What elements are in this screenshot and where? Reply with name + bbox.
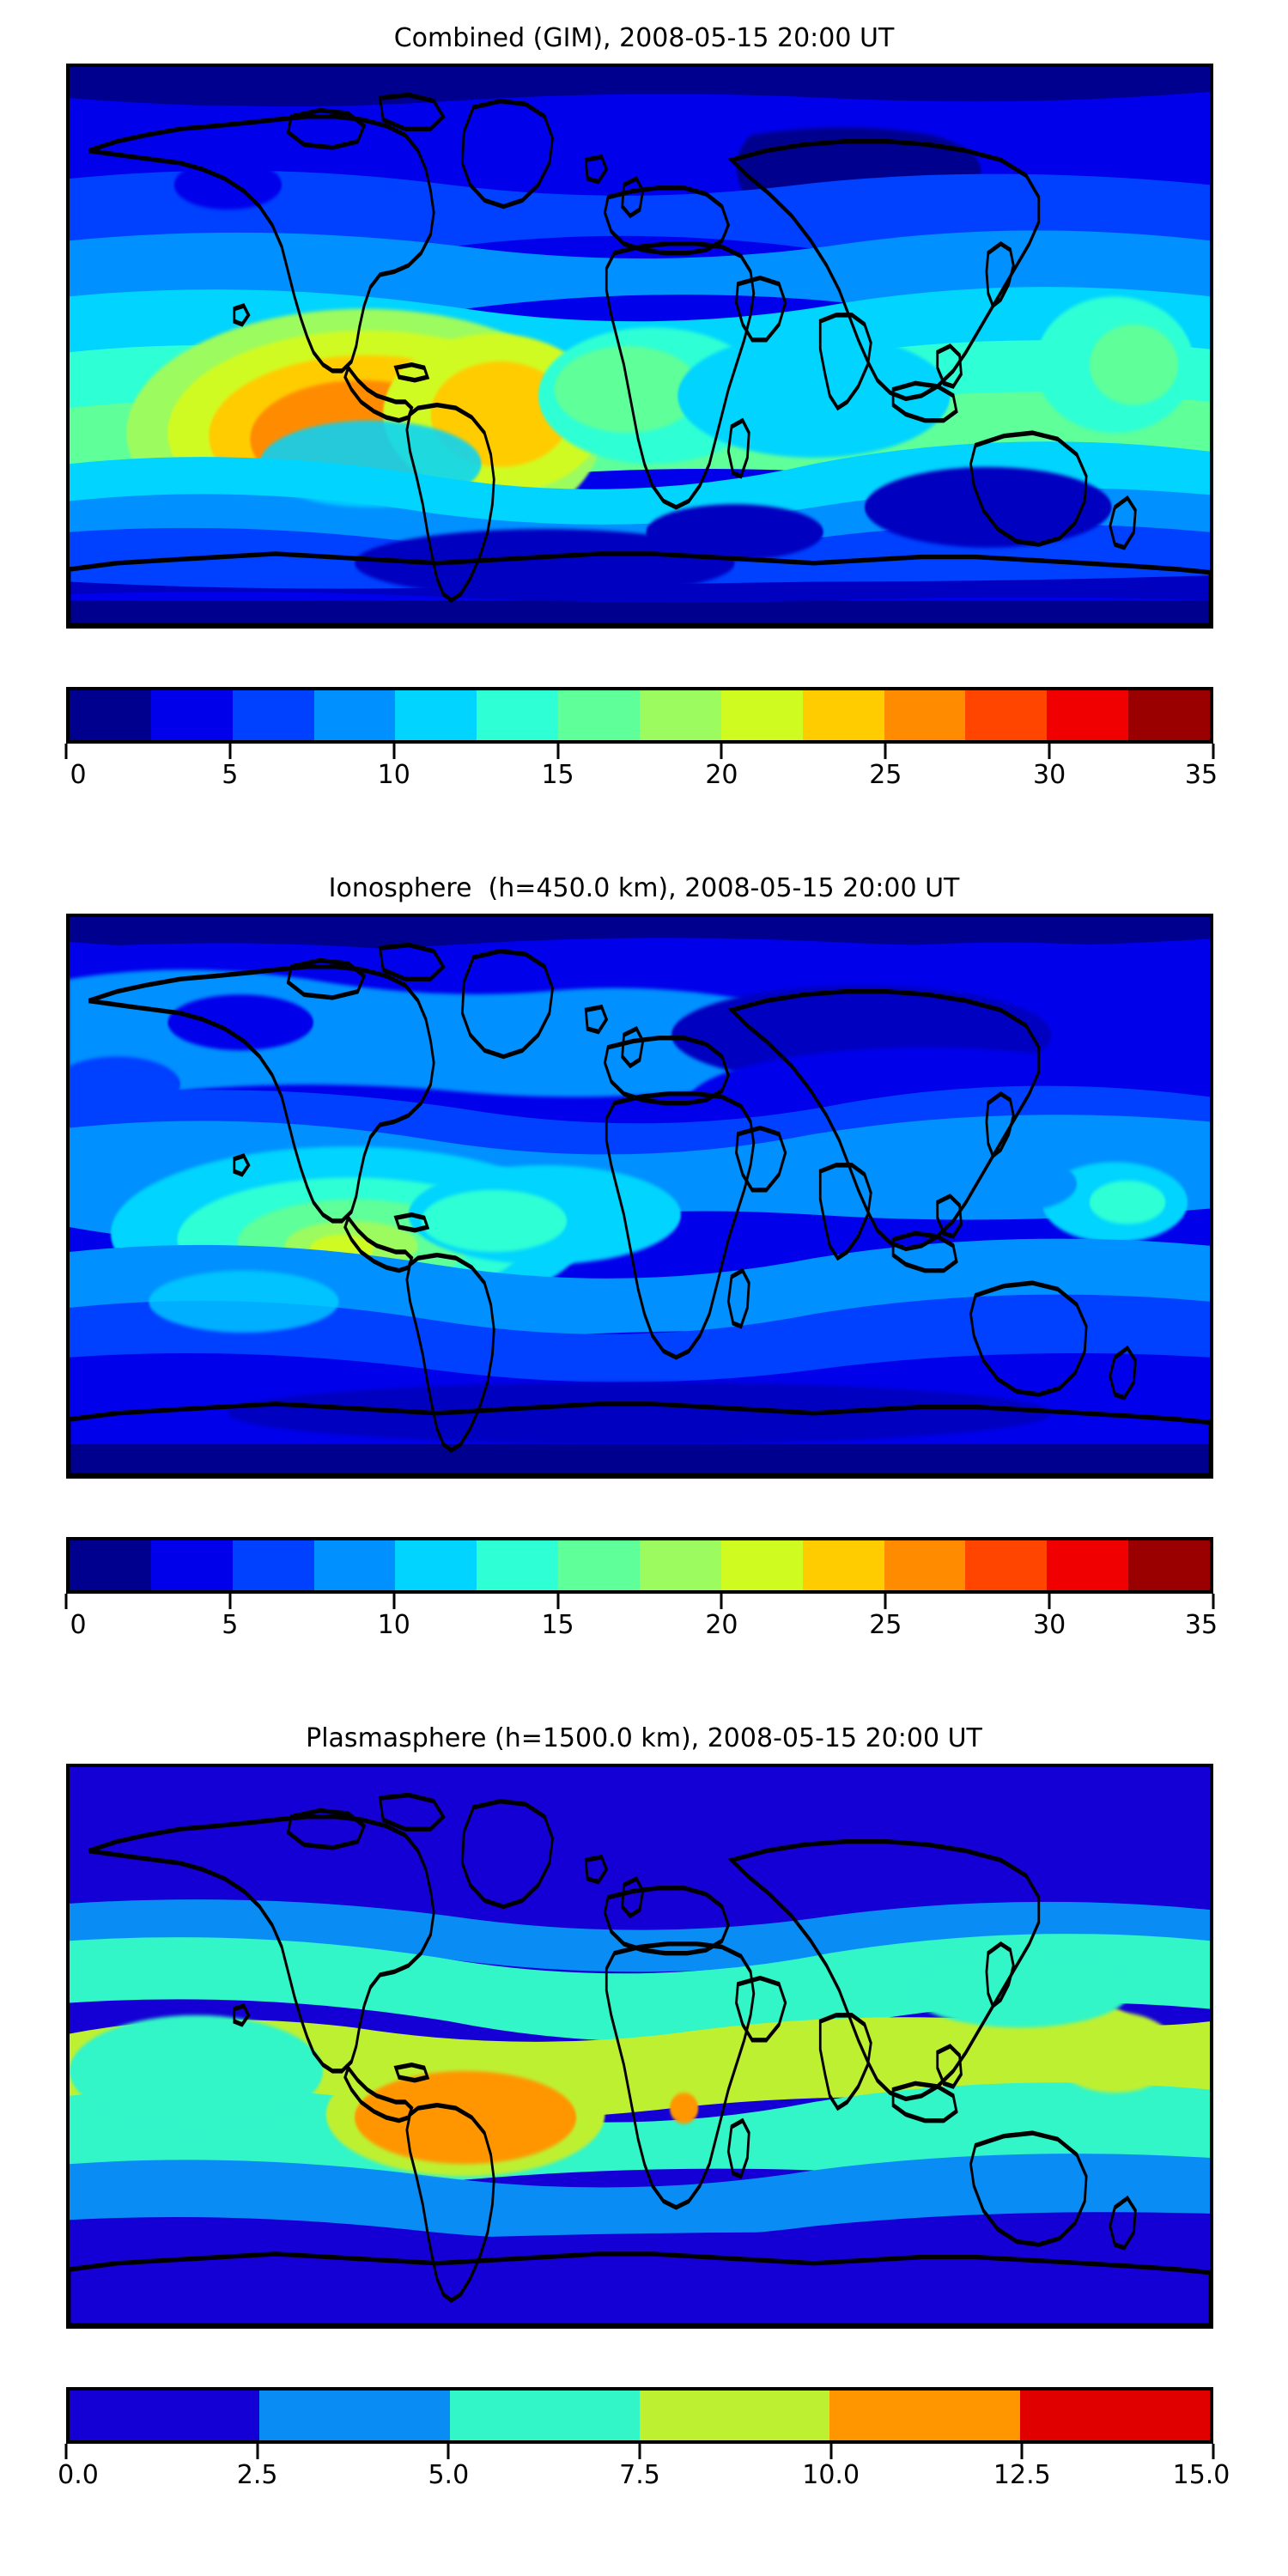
colorbar-band-2 [233, 1540, 314, 1590]
colorbar-band-4 [829, 2391, 1019, 2440]
colorbar-tick-5 [884, 744, 887, 759]
colorbar-tick-label-6: 30 [1033, 761, 1066, 789]
colorbar-plasmasphere-bands [66, 2387, 1213, 2444]
colorbar-band-7 [640, 1540, 721, 1590]
colorbar-band-10 [884, 1540, 966, 1590]
colorbar-band-13 [1128, 690, 1210, 740]
colorbar-band-8 [721, 690, 803, 740]
colorbar-tick-label-1: 2.5 [237, 2461, 278, 2489]
panel-combined-title: Combined (GIM), 2008-05-15 20:00 UT [0, 26, 1288, 52]
colorbar-tick-1 [256, 2444, 258, 2459]
colorbar-band-7 [640, 690, 721, 740]
colorbar-tick-label-4: 20 [705, 761, 738, 789]
colorbar-tick-label-6: 30 [1033, 1611, 1066, 1639]
colorbar-tick-3 [556, 744, 559, 759]
colorbar-band-12 [1047, 690, 1128, 740]
colorbar-band-8 [721, 1540, 803, 1590]
contour-bands [70, 67, 1210, 625]
colorbar-band-5 [477, 1540, 558, 1590]
colorbar-ionosphere-labels: 05101520253035 [66, 1609, 1213, 1647]
colorbar-band-3 [640, 2391, 829, 2440]
contour-bands [70, 917, 1210, 1475]
colorbar-combined-bands [66, 687, 1213, 744]
colorbar-tick-3 [639, 2444, 641, 2459]
colorbar-tick-7 [1212, 1594, 1215, 1609]
map-combined-canvas [70, 67, 1210, 625]
colorbar-combined: 05101520253035 [66, 687, 1213, 797]
colorbar-tick-label-0: 0 [70, 1611, 86, 1639]
colorbar-tick-2 [392, 1594, 395, 1609]
colorbar-band-5 [477, 690, 558, 740]
colorbar-tick-6 [1048, 744, 1051, 759]
colorbar-tick-label-2: 5.0 [428, 2461, 469, 2489]
colorbar-band-4 [395, 690, 477, 740]
colorbar-tick-label-0: 0.0 [58, 2461, 99, 2489]
colorbar-tick-4 [720, 744, 723, 759]
colorbar-tick-2 [392, 744, 395, 759]
colorbar-band-6 [558, 690, 640, 740]
colorbar-tick-0 [65, 2444, 68, 2459]
colorbar-band-9 [803, 690, 884, 740]
panel-ionosphere: Ionosphere (h=450.0 km), 2008-05-15 20:0… [0, 876, 1288, 902]
colorbar-tick-3 [556, 1594, 559, 1609]
colorbar-tick-4 [720, 1594, 723, 1609]
colorbar-band-2 [450, 2391, 640, 2440]
colorbar-tick-1 [228, 1594, 231, 1609]
map-combined [66, 64, 1213, 629]
colorbar-band-13 [1128, 1540, 1210, 1590]
colorbar-plasmasphere-ticks [66, 2444, 1213, 2459]
colorbar-band-1 [259, 2391, 449, 2440]
colorbar-tick-label-4: 10.0 [802, 2461, 860, 2489]
colorbar-tick-0 [65, 1594, 68, 1609]
colorbar-ionosphere-bands [66, 1537, 1213, 1594]
colorbar-band-10 [884, 690, 966, 740]
colorbar-tick-label-4: 20 [705, 1611, 738, 1639]
colorbar-band-9 [803, 1540, 884, 1590]
colorbar-band-0 [70, 2391, 259, 2440]
tec-map-figure: Combined (GIM), 2008-05-15 20:00 UT [0, 0, 1288, 2576]
colorbar-tick-5 [1021, 2444, 1024, 2459]
map-plasmasphere [66, 1764, 1213, 2329]
panel-plasmasphere-title: Plasmasphere (h=1500.0 km), 2008-05-15 2… [0, 1726, 1288, 1752]
colorbar-tick-label-5: 25 [869, 1611, 902, 1639]
colorbar-band-12 [1047, 1540, 1128, 1590]
colorbar-tick-label-7: 35 [1185, 761, 1218, 789]
colorbar-combined-labels: 05101520253035 [66, 759, 1213, 797]
colorbar-band-6 [558, 1540, 640, 1590]
colorbar-tick-4 [829, 2444, 832, 2459]
colorbar-combined-ticks [66, 744, 1213, 759]
colorbar-plasmasphere: 0.02.55.07.510.012.515.0 [66, 2387, 1213, 2497]
colorbar-tick-label-6: 15.0 [1173, 2461, 1230, 2489]
colorbar-tick-6 [1212, 2444, 1215, 2459]
colorbar-tick-label-3: 15 [541, 761, 574, 789]
colorbar-band-5 [1020, 2391, 1210, 2440]
colorbar-tick-2 [447, 2444, 450, 2459]
panel-ionosphere-title: Ionosphere (h=450.0 km), 2008-05-15 20:0… [0, 876, 1288, 902]
colorbar-band-1 [151, 1540, 233, 1590]
colorbar-band-3 [314, 690, 396, 740]
map-plasmasphere-canvas [70, 1767, 1210, 2325]
colorbar-band-3 [314, 1540, 396, 1590]
colorbar-tick-label-0: 0 [70, 761, 86, 789]
colorbar-tick-label-1: 5 [222, 1611, 238, 1639]
colorbar-tick-label-3: 7.5 [619, 2461, 660, 2489]
colorbar-tick-label-7: 35 [1185, 1611, 1218, 1639]
colorbar-band-0 [70, 1540, 151, 1590]
colorbar-tick-0 [65, 744, 68, 759]
colorbar-tick-7 [1212, 744, 1215, 759]
colorbar-band-1 [151, 690, 233, 740]
colorbar-band-0 [70, 690, 151, 740]
panel-plasmasphere: Plasmasphere (h=1500.0 km), 2008-05-15 2… [0, 1726, 1288, 1752]
colorbar-band-11 [965, 1540, 1047, 1590]
colorbar-ionosphere: 05101520253035 [66, 1537, 1213, 1647]
colorbar-tick-label-3: 15 [541, 1611, 574, 1639]
colorbar-tick-label-5: 12.5 [993, 2461, 1051, 2489]
colorbar-tick-label-5: 25 [869, 761, 902, 789]
colorbar-band-2 [233, 690, 314, 740]
colorbar-tick-label-2: 10 [378, 1611, 410, 1639]
colorbar-tick-6 [1048, 1594, 1051, 1609]
colorbar-tick-5 [884, 1594, 887, 1609]
colorbar-tick-label-2: 10 [378, 761, 410, 789]
colorbar-band-4 [395, 1540, 477, 1590]
colorbar-band-11 [965, 690, 1047, 740]
map-ionosphere-canvas [70, 917, 1210, 1475]
colorbar-plasmasphere-labels: 0.02.55.07.510.012.515.0 [66, 2459, 1213, 2497]
colorbar-tick-1 [228, 744, 231, 759]
map-ionosphere [66, 914, 1213, 1479]
panel-combined: Combined (GIM), 2008-05-15 20:00 UT [0, 26, 1288, 52]
colorbar-ionosphere-ticks [66, 1594, 1213, 1609]
colorbar-tick-label-1: 5 [222, 761, 238, 789]
